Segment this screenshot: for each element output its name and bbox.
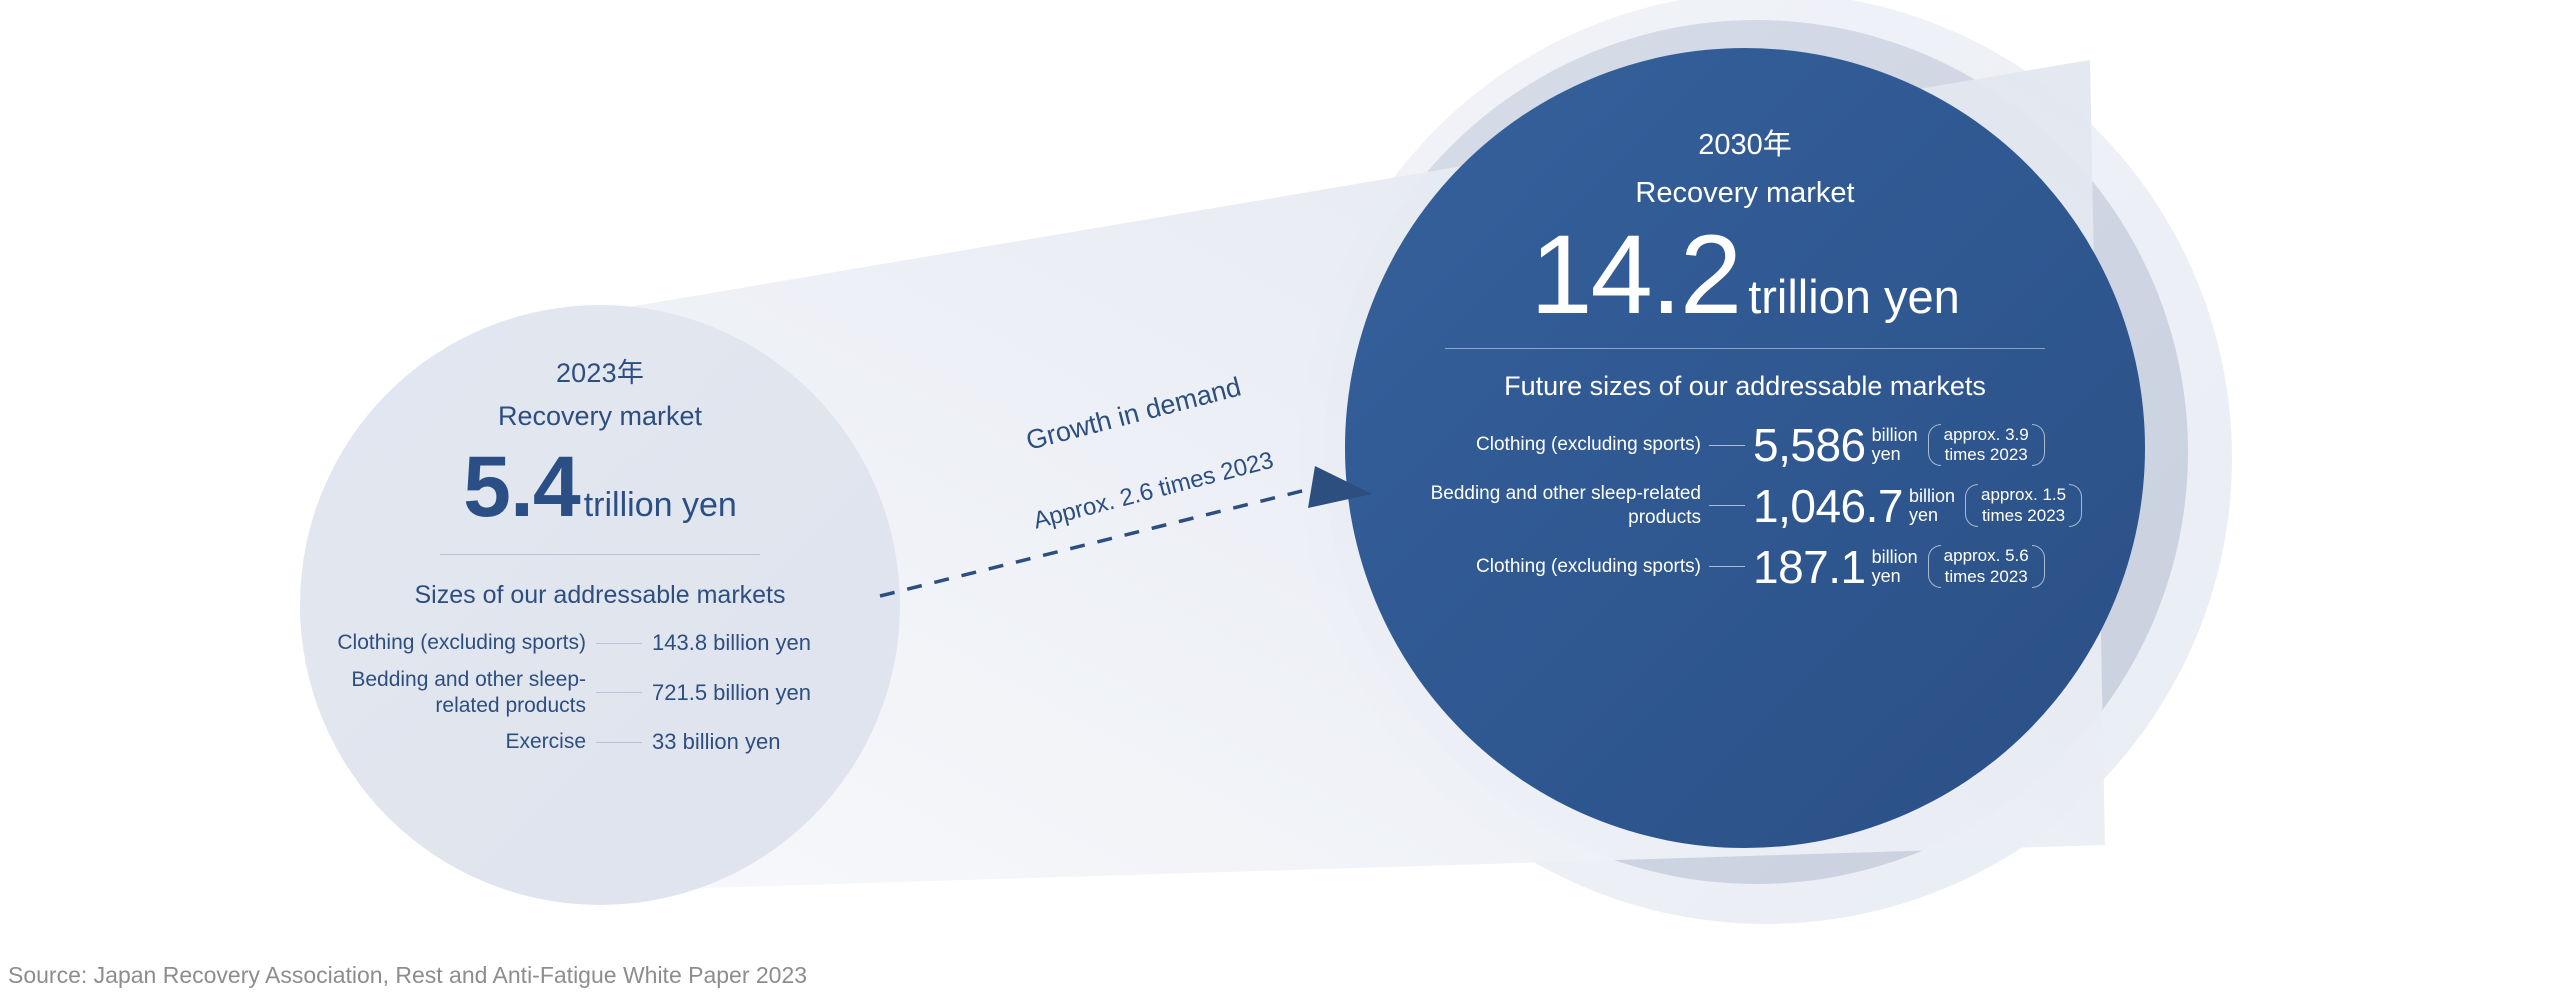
left-year-label: 2023年	[300, 359, 900, 387]
badge-line-1: approx. 1.5	[1981, 485, 2066, 504]
infographic-canvas: 2023年 Recovery market 5.4 trillion yen S…	[0, 0, 2560, 1000]
leader-line	[1709, 445, 1745, 446]
right-market-row: Clothing (excluding sports) 5,586 billio…	[1345, 422, 2145, 468]
right-market-value: 5,586 billion yen	[1753, 422, 1918, 468]
left-market-label: Clothing (excluding sports)	[308, 630, 586, 656]
right-market-number: 5,586	[1753, 422, 1866, 468]
right-market-number: 187.1	[1753, 544, 1866, 590]
badge-line-2: times 2023	[1982, 506, 2065, 525]
unit-line-1: billion	[1872, 425, 1918, 445]
right-market-unit: billion yen	[1872, 548, 1918, 586]
badge-line-1: approx. 3.9	[1944, 425, 2029, 444]
left-circle-content: 2023年 Recovery market 5.4 trillion yen S…	[300, 305, 900, 905]
unit-line-2: yen	[1909, 505, 1938, 525]
right-big-number: 14.2	[1530, 216, 1740, 334]
left-market-label: Exercise	[308, 729, 586, 755]
leader-line	[1709, 566, 1745, 567]
left-big-unit: trillion yen	[584, 486, 737, 525]
right-market-row: Clothing (excluding sports) 187.1 billio…	[1345, 544, 2145, 590]
leader-line	[596, 643, 642, 644]
left-market-label: Bedding and other sleep-related products	[308, 667, 586, 720]
right-market-number: 1,046.7	[1753, 483, 1903, 529]
right-big-unit: trillion yen	[1748, 269, 1960, 324]
unit-line-1: billion	[1909, 486, 1955, 506]
right-market-value: 1,046.7 billion yen	[1753, 483, 1955, 529]
multiplier-badge: approx. 1.5 times 2023	[1965, 484, 2082, 527]
unit-line-1: billion	[1872, 547, 1918, 567]
left-divider	[440, 554, 760, 555]
left-market-row: Clothing (excluding sports) 143.8 billio…	[308, 630, 892, 656]
source-note: Source: Japan Recovery Association, Rest…	[8, 962, 807, 989]
left-market-value: 143.8 billion yen	[652, 630, 882, 656]
right-market-label: Clothing (excluding sports)	[1381, 433, 1701, 457]
left-big-value: 5.4 trillion yen	[300, 444, 900, 530]
left-market-value: 33 billion yen	[652, 729, 882, 755]
unit-line-2: yen	[1872, 444, 1901, 464]
right-market-unit: billion yen	[1872, 426, 1918, 464]
badge-line-2: times 2023	[1945, 445, 2028, 464]
leader-line	[596, 742, 642, 743]
right-subtitle-label: Recovery market	[1345, 177, 2145, 210]
badge-line-2: times 2023	[1945, 567, 2028, 586]
left-subtitle-label: Recovery market	[300, 401, 900, 432]
right-big-value: 14.2 trillion yen	[1345, 216, 2145, 334]
right-section-heading: Future sizes of our addressable markets	[1345, 371, 2145, 402]
right-divider	[1445, 348, 2045, 349]
right-circle-content: 2030年 Recovery market 14.2 trillion yen …	[1345, 48, 2145, 848]
badge-line-1: approx. 5.6	[1944, 546, 2029, 565]
multiplier-badge: approx. 5.6 times 2023	[1928, 545, 2045, 588]
right-market-unit: billion yen	[1909, 487, 1955, 525]
left-section-heading: Sizes of our addressable markets	[300, 581, 900, 610]
left-market-row: Exercise 33 billion yen	[308, 729, 892, 755]
right-market-label: Bedding and other sleep-related products	[1381, 482, 1701, 530]
right-market-row: Bedding and other sleep-related products…	[1345, 482, 2145, 530]
left-market-row: Bedding and other sleep-related products…	[308, 667, 892, 720]
left-market-rows: Clothing (excluding sports) 143.8 billio…	[300, 630, 900, 755]
leader-line	[596, 692, 642, 693]
leader-line	[1709, 505, 1745, 506]
unit-line-2: yen	[1872, 566, 1901, 586]
right-market-rows: Clothing (excluding sports) 5,586 billio…	[1345, 422, 2145, 590]
left-big-number: 5.4	[463, 444, 580, 530]
multiplier-badge: approx. 3.9 times 2023	[1928, 424, 2045, 467]
left-market-value: 721.5 billion yen	[652, 680, 882, 706]
right-market-label: Clothing (excluding sports)	[1381, 555, 1701, 579]
right-year-label: 2030年	[1345, 130, 2145, 160]
right-market-value: 187.1 billion yen	[1753, 544, 1918, 590]
